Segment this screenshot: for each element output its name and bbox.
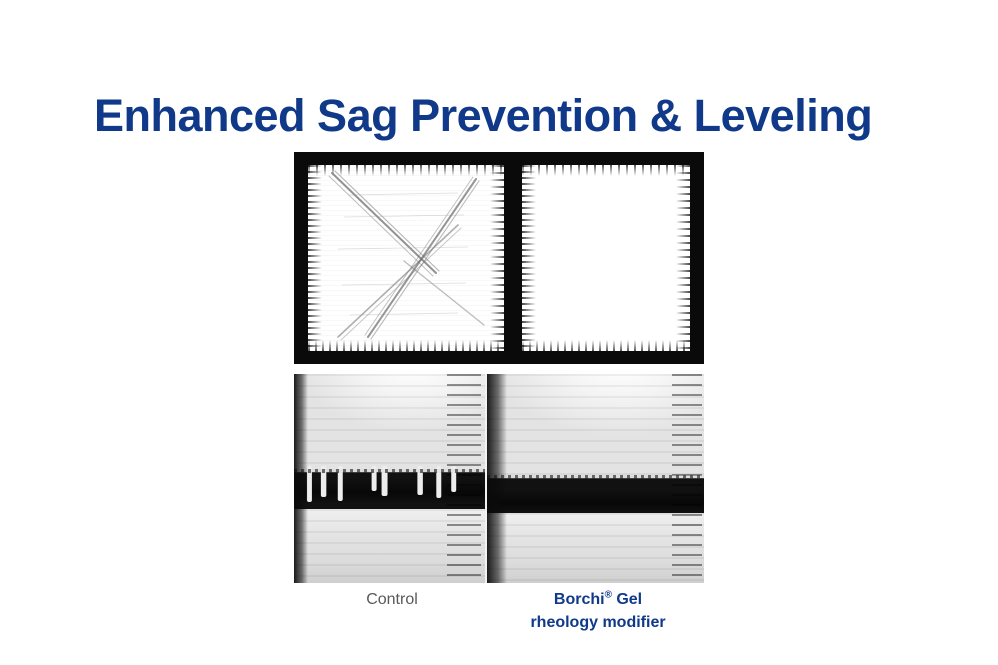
- page-title: Enhanced Sag Prevention & Leveling: [94, 92, 914, 139]
- caption-modifier-line1: Borchi® Gel: [492, 588, 704, 611]
- sag-fingers: [294, 374, 485, 583]
- caption-modifier-product: Gel: [612, 591, 642, 608]
- slide: Enhanced Sag Prevention & Leveling: [0, 0, 998, 665]
- brush-edge-left: [522, 165, 536, 351]
- caption-modifier: Borchi® Gel rheology modifier: [492, 588, 704, 634]
- film-ridges: [487, 513, 704, 583]
- sag-sample-modifier: [485, 374, 704, 583]
- film-ridges: [487, 374, 704, 478]
- leveling-test-panel: [294, 152, 704, 364]
- comparison-figure: [294, 152, 704, 583]
- figure-captions: Control Borchi® Gel rheology modifier: [294, 588, 704, 648]
- caption-modifier-brand: Borchi: [554, 591, 605, 608]
- brush-edge-top: [522, 165, 690, 176]
- leveling-sample-control: [308, 165, 504, 351]
- sag-sample-control: [294, 374, 485, 583]
- brush-edge-bottom: [522, 340, 690, 351]
- film-upper: [487, 374, 704, 478]
- film-lower: [487, 513, 704, 583]
- registered-trademark-icon: ®: [605, 590, 612, 601]
- caption-modifier-line2: rheology modifier: [492, 611, 704, 634]
- brush-mark-x-pattern: [308, 165, 504, 351]
- sag-test-panel: [294, 374, 704, 583]
- brush-edge-right: [676, 165, 690, 351]
- caption-control: Control: [294, 590, 490, 610]
- gap-shadow: [487, 490, 704, 514]
- leveling-sample-modifier: [522, 165, 690, 351]
